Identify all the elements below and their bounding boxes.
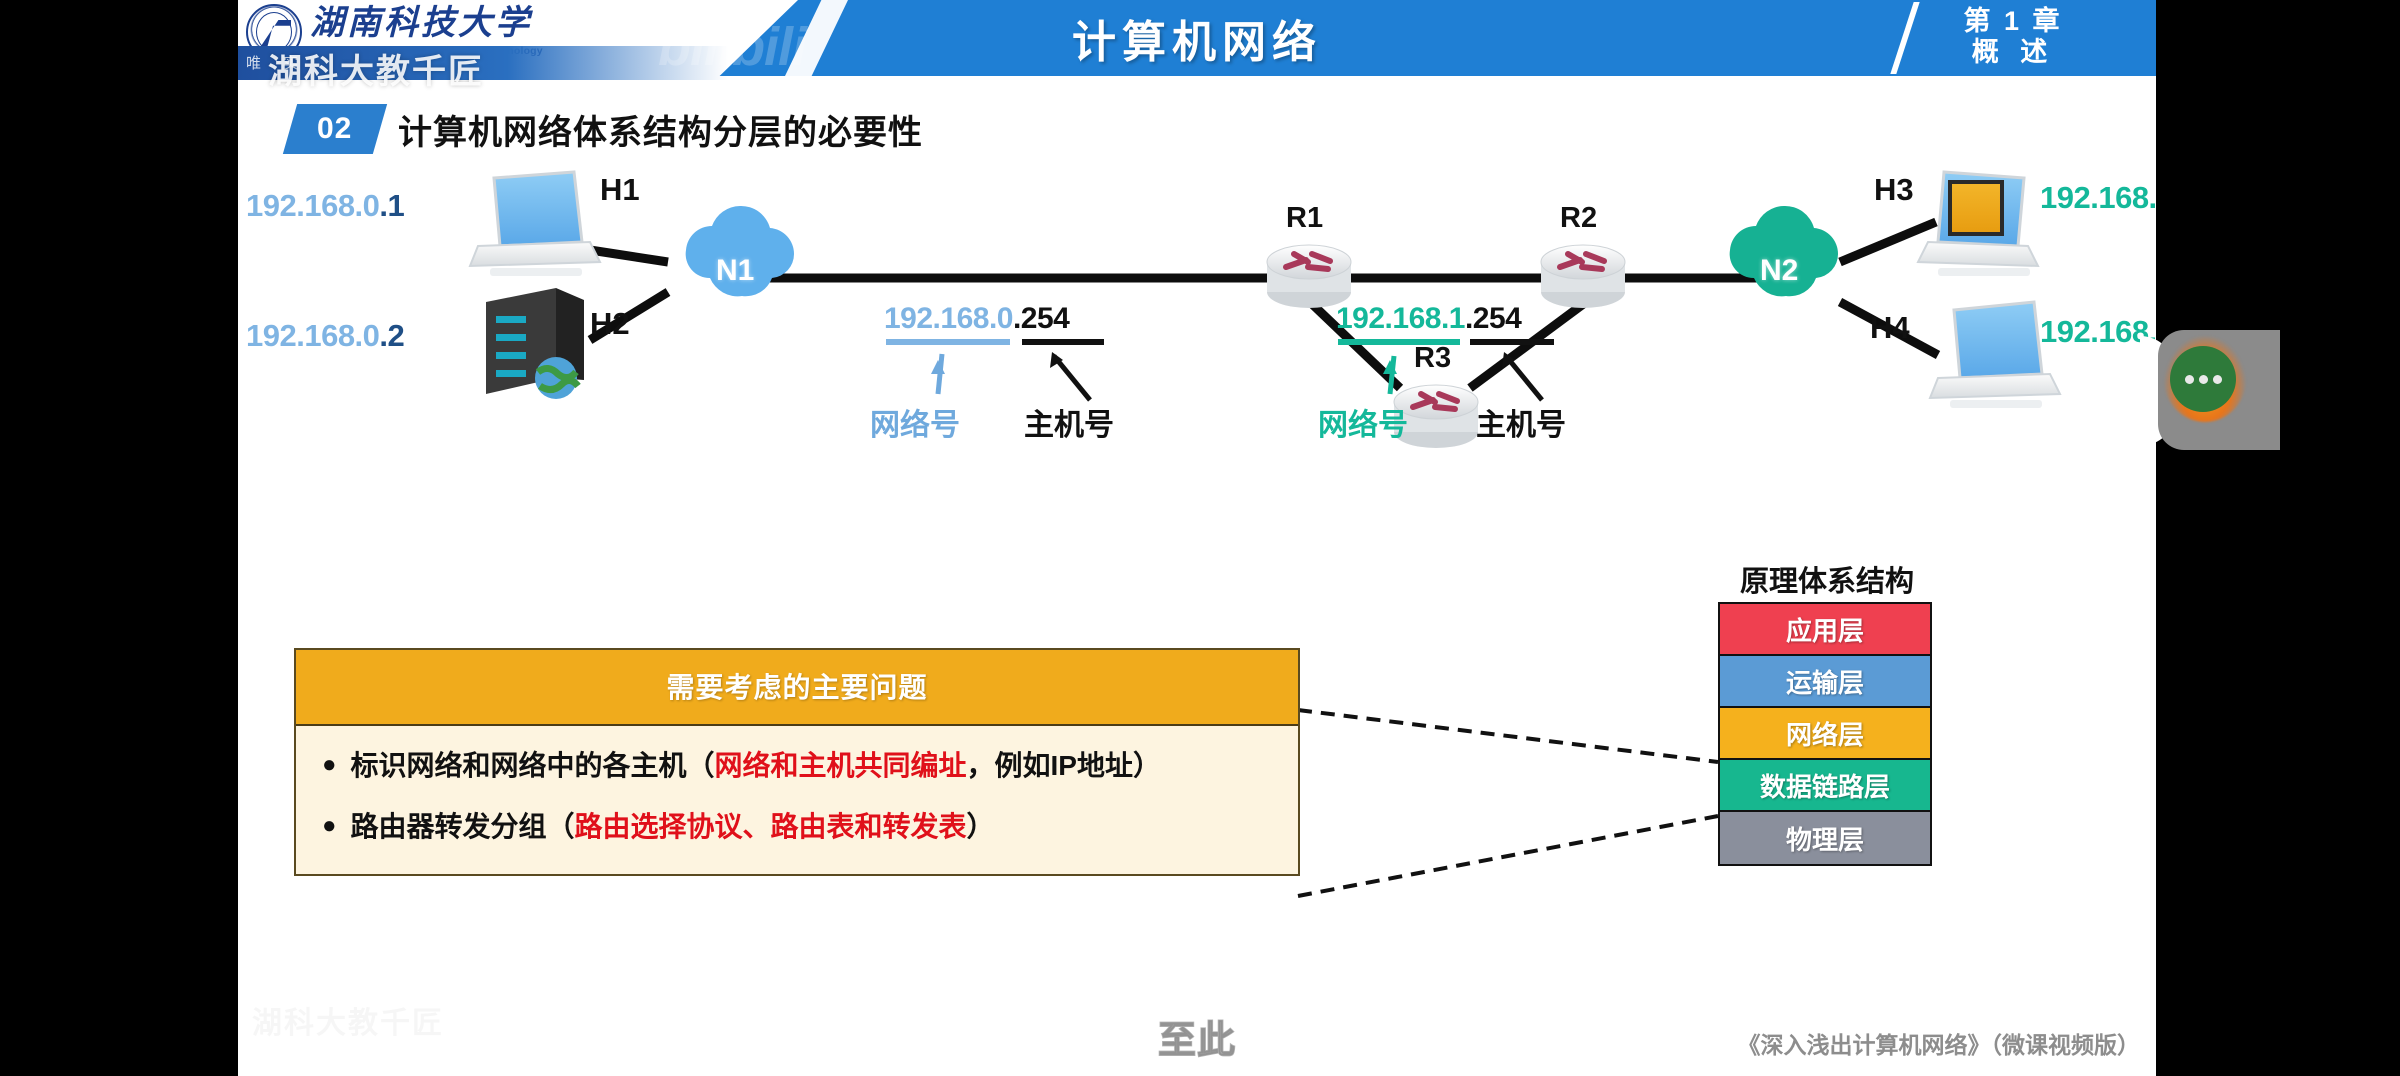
question-item: ● 标识网络和网络中的各主机（网络和主机共同编址，例如IP地址）	[322, 748, 1272, 783]
avatar[interactable]	[2170, 346, 2236, 412]
host-label-h3: H3	[1874, 172, 1914, 208]
ip-address-h2: 192.168.0.2	[246, 318, 404, 354]
router-label-r3: R3	[1414, 342, 1451, 375]
ip-host-part: .2	[379, 318, 404, 353]
question-text-pre: 路由器转发分组（	[351, 811, 575, 842]
bullet-icon: ●	[322, 809, 337, 843]
ip-address-h1: 192.168.0.1	[246, 188, 404, 224]
course-title: 计算机网络	[238, 0, 2156, 76]
protocol-layer-stack: 应用层 运输层 网络层 数据链路层 物理层	[1718, 602, 1932, 866]
layer-physical: 物理层	[1720, 812, 1930, 864]
section-heading: 02 计算机网络体系结构分层的必要性	[290, 104, 923, 154]
chapter-number: 第 1 章	[1918, 6, 2108, 37]
avatar-dot-icon	[2185, 375, 2194, 384]
section-number: 02	[317, 112, 352, 146]
ip-address-h4: 192.168.1.2	[2040, 314, 2156, 350]
key-questions-body: ● 标识网络和网络中的各主机（网络和主机共同编址，例如IP地址） ● 路由器转发…	[296, 726, 1298, 874]
stack-title: 原理体系结构	[1702, 558, 1952, 600]
server-h2-icon	[486, 288, 584, 399]
question-text: 路由器转发分组（路由选择协议、路由表和转发表）	[351, 809, 995, 844]
cloud-label-n1: N1	[716, 254, 754, 288]
question-text-post: ，例如IP地址）	[967, 750, 1161, 781]
question-text-post: ）	[967, 811, 995, 842]
address-network-part: 192.168.1	[1336, 302, 1465, 335]
question-text-highlight: 路由选择协议、路由表和转发表	[575, 811, 967, 842]
label-network-number-right: 网络号	[1318, 400, 1408, 444]
avatar-dot-icon	[2213, 375, 2222, 384]
layer-data-link: 数据链路层	[1720, 760, 1930, 812]
ip-network-part: 192.168.0	[246, 188, 379, 223]
address-host-part: .254	[1465, 302, 1521, 335]
question-item: ● 路由器转发分组（路由选择协议、路由表和转发表）	[322, 809, 1272, 844]
router-r1-icon	[1267, 245, 1351, 308]
question-text: 标识网络和网络中的各主机（网络和主机共同编址，例如IP地址）	[351, 748, 1162, 783]
label-host-number-left: 主机号	[1024, 400, 1114, 444]
streamer-avatar-panel[interactable]	[2158, 330, 2280, 450]
chapter-indicator: 第 1 章 概 述	[1918, 6, 2108, 68]
layer-transport: 运输层	[1720, 656, 1930, 708]
host-label-h2: H2	[590, 306, 630, 342]
ip-network-part: 192.168.1	[2040, 314, 2156, 349]
network-topology-diagram: N1 N2 H1 H2 H3 H4 R1 R2 R3 192.168.0.1 1…	[238, 150, 2156, 610]
router-interface-address-left: 192.168.0.254	[884, 302, 1069, 336]
video-player-frame: 湖南科技大学 Hunan University of Science and T…	[0, 0, 2400, 1076]
callout-connector-lines	[1294, 700, 1724, 920]
router-r2-icon	[1541, 245, 1625, 308]
ip-network-part: 192.168.1	[2040, 180, 2156, 215]
course-title-text: 计算机网络	[1072, 6, 1322, 70]
question-text-highlight: 网络和主机共同编址	[715, 750, 967, 781]
ip-network-part: 192.168.0	[246, 318, 379, 353]
question-text-pre: 标识网络和网络中的各主机（	[351, 750, 715, 781]
host-label-h4: H4	[1870, 310, 1910, 346]
slide-banner: 湖南科技大学 Hunan University of Science and T…	[238, 0, 2156, 76]
chapter-name: 概 述	[1918, 37, 2108, 68]
key-questions-box: 需要考虑的主要问题 ● 标识网络和网络中的各主机（网络和主机共同编址，例如IP地…	[294, 648, 1300, 876]
ip-address-h3: 192.168.1.1	[2040, 180, 2156, 216]
video-subtitle: 至此	[238, 1009, 2156, 1064]
router-label-r2: R2	[1560, 202, 1597, 235]
avatar-dot-icon	[2199, 375, 2208, 384]
label-network-number-left: 网络号	[870, 400, 960, 444]
address-host-part: .254	[1013, 302, 1069, 335]
section-title: 计算机网络体系结构分层的必要性	[398, 105, 923, 154]
key-questions-header: 需要考虑的主要问题	[296, 650, 1298, 726]
slide-canvas: 湖南科技大学 Hunan University of Science and T…	[238, 0, 2156, 1076]
address-network-part: 192.168.0	[884, 302, 1013, 335]
cloud-label-n2: N2	[1760, 254, 1798, 288]
topology-links-and-devices	[238, 150, 2156, 610]
label-host-number-right: 主机号	[1476, 400, 1566, 444]
router-label-r1: R1	[1286, 202, 1323, 235]
layer-network: 网络层	[1720, 708, 1930, 760]
host-label-h1: H1	[600, 172, 640, 208]
layer-application: 应用层	[1720, 604, 1930, 656]
section-number-badge: 02	[283, 104, 387, 154]
ip-host-part: .1	[379, 188, 404, 223]
router-interface-address-right: 192.168.1.254	[1336, 302, 1521, 336]
bullet-icon: ●	[322, 748, 337, 782]
laptop-h1-icon	[470, 172, 600, 276]
